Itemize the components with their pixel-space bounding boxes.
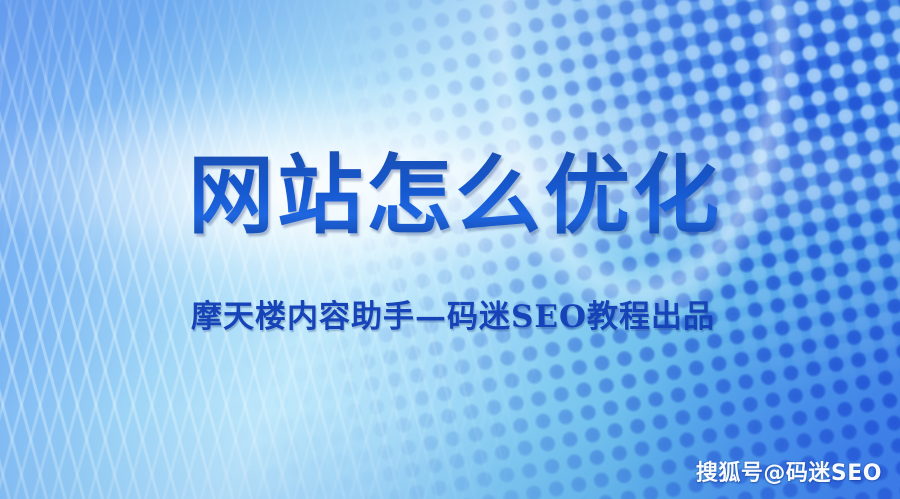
banner-image: 网站怎么优化 摩天楼内容助手—码迷SEO教程出品 搜狐号@码迷SEO — [0, 0, 900, 499]
banner-title: 网站怎么优化 — [0, 150, 900, 243]
banner-subtitle: 摩天楼内容助手—码迷SEO教程出品 — [0, 291, 900, 336]
banner-content: 网站怎么优化 摩天楼内容助手—码迷SEO教程出品 搜狐号@码迷SEO — [0, 0, 900, 499]
watermark-label: 搜狐号@码迷SEO — [696, 455, 882, 487]
